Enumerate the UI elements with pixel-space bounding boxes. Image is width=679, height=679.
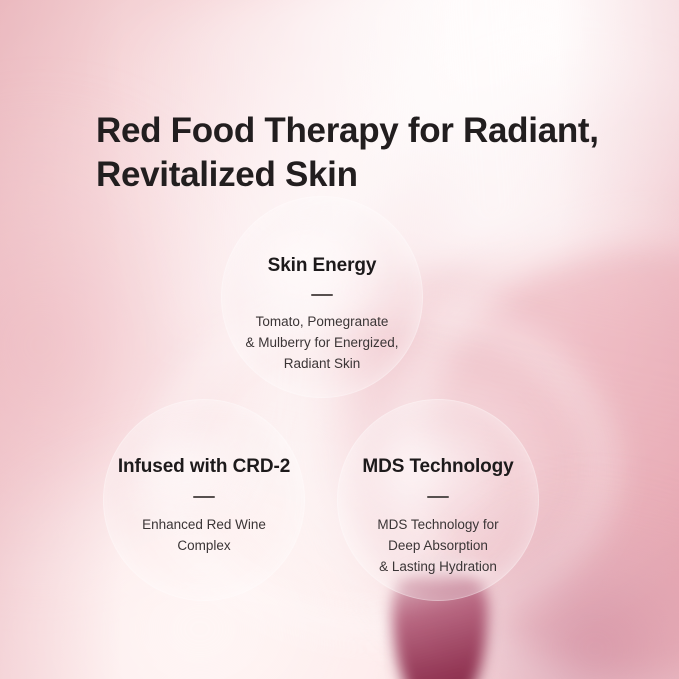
feature-body: MDS Technology for Deep Absorption & Las… [377,514,498,577]
feature-body: Tomato, Pomegranate & Mulberry for Energ… [245,311,398,374]
feature-circle-crd2: Infused with CRD-2 Enhanced Red Wine Com… [103,399,305,601]
promo-banner: Red Food Therapy for Radiant, Revitalize… [0,0,679,679]
page-title: Red Food Therapy for Radiant, Revitalize… [96,109,616,197]
feature-circle-skin-energy: Skin Energy Tomato, Pomegranate & Mulber… [221,196,423,398]
feature-divider [427,496,449,498]
feature-heading: Infused with CRD-2 [118,456,290,478]
feature-circle-mds: MDS Technology MDS Technology for Deep A… [337,399,539,601]
feature-body: Enhanced Red Wine Complex [142,514,266,556]
feature-heading: MDS Technology [362,456,513,478]
feature-heading: Skin Energy [268,255,377,277]
feature-divider [193,496,215,498]
feature-divider [311,294,333,296]
